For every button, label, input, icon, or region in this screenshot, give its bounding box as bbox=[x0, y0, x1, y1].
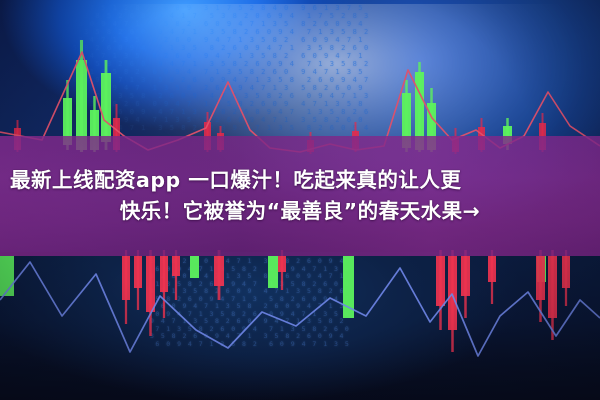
headline-block: 最新上线配资app 一口爆汁！吃起来真的让人更 快乐！它被誉为“最善良”的春天水… bbox=[0, 140, 600, 252]
thumbnail-image: 8 4 1 2 9 0 3 7 5 1 2 8 4 6 0 9 3 1 7 5 … bbox=[0, 0, 600, 400]
headline-line-1: 最新上线配资app 一口爆汁！吃起来真的让人更 bbox=[10, 168, 461, 193]
headline-line-2: 快乐！它被誉为“最善良”的春天水果→ bbox=[120, 199, 481, 224]
